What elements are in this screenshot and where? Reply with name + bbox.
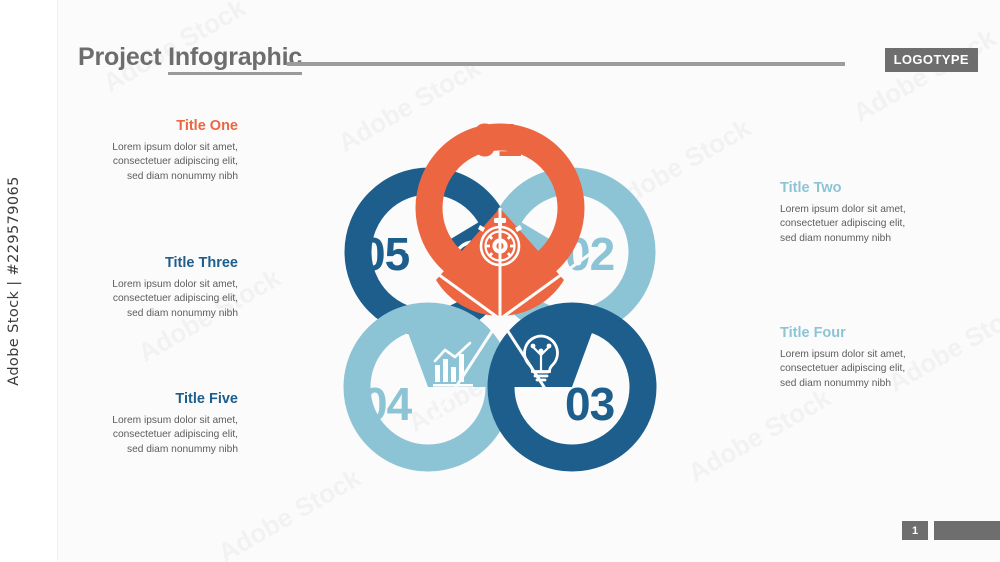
watermark-tile: Adobe Stock	[848, 22, 1000, 128]
block-body: Lorem ipsum dolor sit amet, consectetuer…	[780, 348, 966, 391]
page-title-underlined: Infographic	[168, 43, 302, 75]
segment-04-number: 04	[362, 378, 413, 430]
block-title: Title Three	[52, 255, 238, 271]
segment-03[interactable]: 03	[497, 305, 643, 458]
text-block-title-five: Title Five Lorem ipsum dolor sit amet, c…	[52, 391, 238, 457]
segment-01-number: 01	[472, 114, 522, 166]
text-block-title-two: Title Two Lorem ipsum dolor sit amet, co…	[780, 180, 966, 246]
segment-03-number: 03	[565, 378, 614, 430]
footer-bar	[934, 521, 1000, 540]
text-block-title-four: Title Four Lorem ipsum dolor sit amet, c…	[780, 325, 966, 391]
pentagon-cycle-diagram: 05 04	[300, 90, 700, 490]
block-title: Title Four	[780, 325, 966, 341]
block-body: Lorem ipsum dolor sit amet, consectetuer…	[52, 141, 238, 184]
infographic-canvas: Adobe Stock Adobe Stock Adobe Stock Adob…	[0, 0, 1000, 562]
block-body: Lorem ipsum dolor sit amet, consectetuer…	[52, 278, 238, 321]
block-body: Lorem ipsum dolor sit amet, consectetuer…	[52, 414, 238, 457]
text-block-title-one: Title One Lorem ipsum dolor sit amet, co…	[52, 118, 238, 184]
segment-05-number: 05	[360, 228, 410, 280]
block-title: Title Five	[52, 391, 238, 407]
block-body: Lorem ipsum dolor sit amet, consectetuer…	[780, 203, 966, 246]
block-title: Title Two	[780, 180, 966, 196]
page-title-first: Project	[78, 43, 168, 71]
page-title: Project Infographic	[78, 43, 302, 72]
text-block-title-three: Title Three Lorem ipsum dolor sit amet, …	[52, 255, 238, 321]
header-divider	[287, 62, 845, 66]
block-title: Title One	[52, 118, 238, 134]
logotype-badge: LOGOTYPE	[885, 48, 978, 72]
watermark-tile: Adobe Stock	[683, 382, 836, 488]
page-number-badge: 1	[902, 521, 928, 540]
stock-id-text: Adobe Stock | #229579065	[6, 176, 22, 386]
segment-04[interactable]: 04	[357, 305, 503, 458]
